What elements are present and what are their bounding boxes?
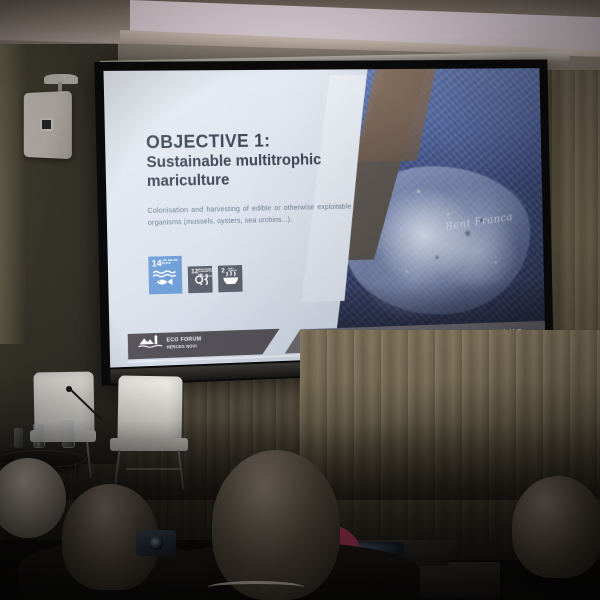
left-wall-highlight bbox=[0, 44, 26, 344]
lanyard bbox=[208, 581, 304, 594]
bowl-icon bbox=[218, 271, 243, 289]
sdg-badge-14: 14 LIFE BELOW WATER bbox=[149, 256, 183, 295]
infinity-icon bbox=[188, 272, 213, 291]
camera-lens-icon bbox=[150, 537, 163, 550]
eco-forum-location: HERCEG NOVI bbox=[167, 344, 202, 350]
fish-icon bbox=[149, 268, 183, 292]
eco-forum-text: ECO FORUM HERCEG NOVI bbox=[166, 337, 201, 350]
audience-head-right bbox=[512, 476, 600, 578]
sdg-badge-12: 12 RESPONSIBLE CONSUMPTION AND PRODUCTIO… bbox=[188, 266, 213, 293]
conference-room-photo: OBJECTIVE 1: Sustainable multitrophic ma… bbox=[0, 0, 600, 600]
slide-title-line1: OBJECTIVE 1: bbox=[146, 130, 368, 153]
sdg-number: 14 bbox=[152, 258, 162, 268]
audience-head-center bbox=[212, 450, 340, 600]
slide-title: OBJECTIVE 1: Sustainable multitrophic ma… bbox=[146, 130, 368, 191]
eco-forum-logo: ECO FORUM HERCEG NOVI bbox=[137, 333, 202, 355]
presentation-slide: OBJECTIVE 1: Sustainable multitrophic ma… bbox=[103, 68, 545, 367]
sdg-label: LIFE BELOW WATER bbox=[161, 259, 180, 266]
mountain-lighthouse-icon bbox=[137, 334, 163, 355]
speaker-led-icon bbox=[40, 118, 53, 131]
sdg-badge-row: 14 LIFE BELOW WATER bbox=[149, 254, 243, 294]
slide-body-text: Colonisation and harvesting of edible or… bbox=[147, 201, 351, 228]
screen-surface: OBJECTIVE 1: Sustainable multitrophic ma… bbox=[103, 68, 545, 367]
sdg-badge-2: 2 ZERO HUNGER bbox=[218, 265, 243, 292]
